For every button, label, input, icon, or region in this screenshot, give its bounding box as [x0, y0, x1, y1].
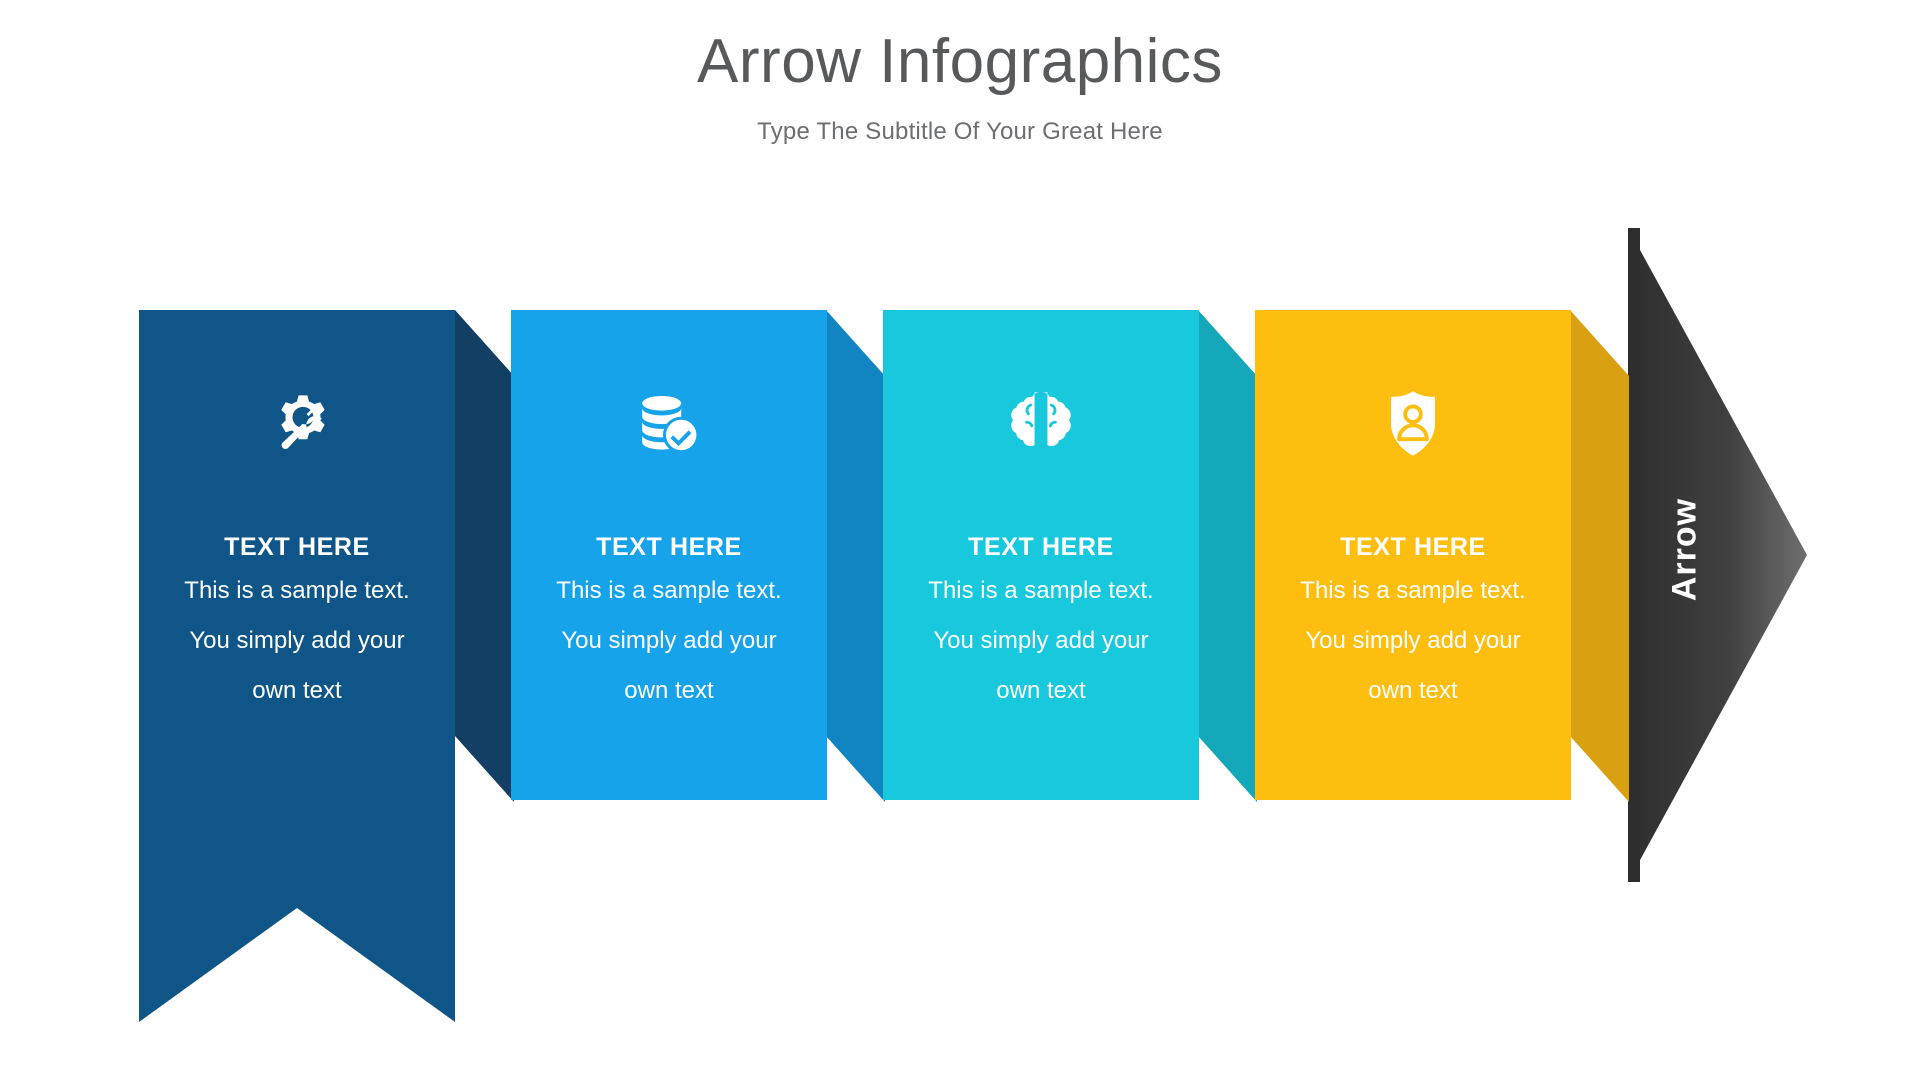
card-fold-2 — [826, 310, 885, 802]
card-3-heading: TEXT HERE — [883, 533, 1199, 562]
card-4-body-line-2: You simply add your — [1255, 616, 1571, 666]
card-3-body: This is a sample text. You simply add yo… — [883, 566, 1199, 716]
card-2-body-line-2: You simply add your — [511, 616, 827, 666]
card-fold-1 — [455, 310, 514, 802]
arrow-shape — [1628, 228, 1807, 882]
brain-icon — [883, 385, 1199, 468]
card-3-body-line-1: This is a sample text. — [883, 566, 1199, 616]
card-4-body-line-3: own text — [1255, 666, 1571, 716]
card-fold-3 — [1198, 310, 1257, 802]
card-2-body: This is a sample text. You simply add yo… — [511, 566, 827, 716]
card-4-body-line-1: This is a sample text. — [1255, 566, 1571, 616]
gear-wrench-icon — [139, 385, 455, 468]
card-1-body-line-3: own text — [139, 666, 455, 716]
card-fold-4 — [1570, 310, 1629, 802]
shield-user-icon — [1255, 385, 1571, 468]
card-1[interactable]: TEXT HERE This is a sample text. You sim… — [139, 310, 455, 1022]
card-3-body-line-2: You simply add your — [883, 616, 1199, 666]
slide-canvas: Arrow Infographics Type The Subtitle Of … — [0, 0, 1920, 1080]
arrow-body — [1628, 228, 1640, 882]
card-1-body-line-1: This is a sample text. — [139, 566, 455, 616]
card-2-heading: TEXT HERE — [511, 533, 827, 562]
card-3[interactable]: TEXT HERE This is a sample text. You sim… — [883, 310, 1199, 800]
card-1-body: This is a sample text. You simply add yo… — [139, 566, 455, 716]
card-2-body-line-3: own text — [511, 666, 827, 716]
card-3-body-line-3: own text — [883, 666, 1199, 716]
card-4-body: This is a sample text. You simply add yo… — [1255, 566, 1571, 716]
arrow-infographic: TEXT HERE This is a sample text. You sim… — [0, 0, 1920, 1080]
database-check-icon — [511, 385, 827, 468]
card-1-body-line-2: You simply add your — [139, 616, 455, 666]
card-2[interactable]: TEXT HERE This is a sample text. You sim… — [511, 310, 827, 800]
card-1-heading: TEXT HERE — [139, 533, 455, 562]
card-2-body-line-1: This is a sample text. — [511, 566, 827, 616]
arrow-label: Arrow — [1666, 490, 1705, 610]
card-4-heading: TEXT HERE — [1255, 533, 1571, 562]
card-4[interactable]: TEXT HERE This is a sample text. You sim… — [1255, 310, 1571, 800]
